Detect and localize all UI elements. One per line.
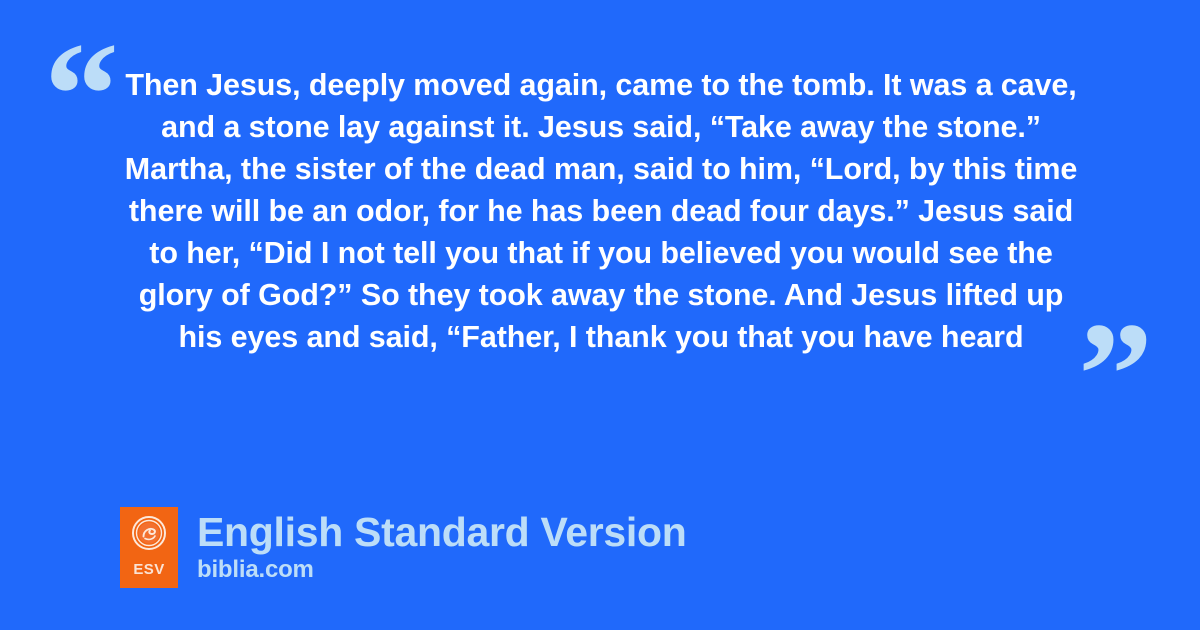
branding: ESV English Standard Version biblia.com — [120, 507, 686, 588]
esv-logo-badge: ESV — [120, 507, 178, 588]
bible-version-title: English Standard Version — [197, 509, 686, 555]
esv-abbreviation-label: ESV — [133, 561, 164, 578]
close-quote-icon: ” — [1078, 300, 1153, 450]
verse-share-card: “ Then Jesus, deeply moved again, came t… — [0, 0, 1200, 630]
open-quote-icon: “ — [44, 20, 119, 170]
scripture-quote-text: Then Jesus, deeply moved again, came to … — [118, 64, 1084, 358]
site-url-label[interactable]: biblia.com — [197, 555, 686, 585]
esv-seal-icon — [132, 516, 166, 550]
brand-text-block: English Standard Version biblia.com — [197, 507, 686, 585]
